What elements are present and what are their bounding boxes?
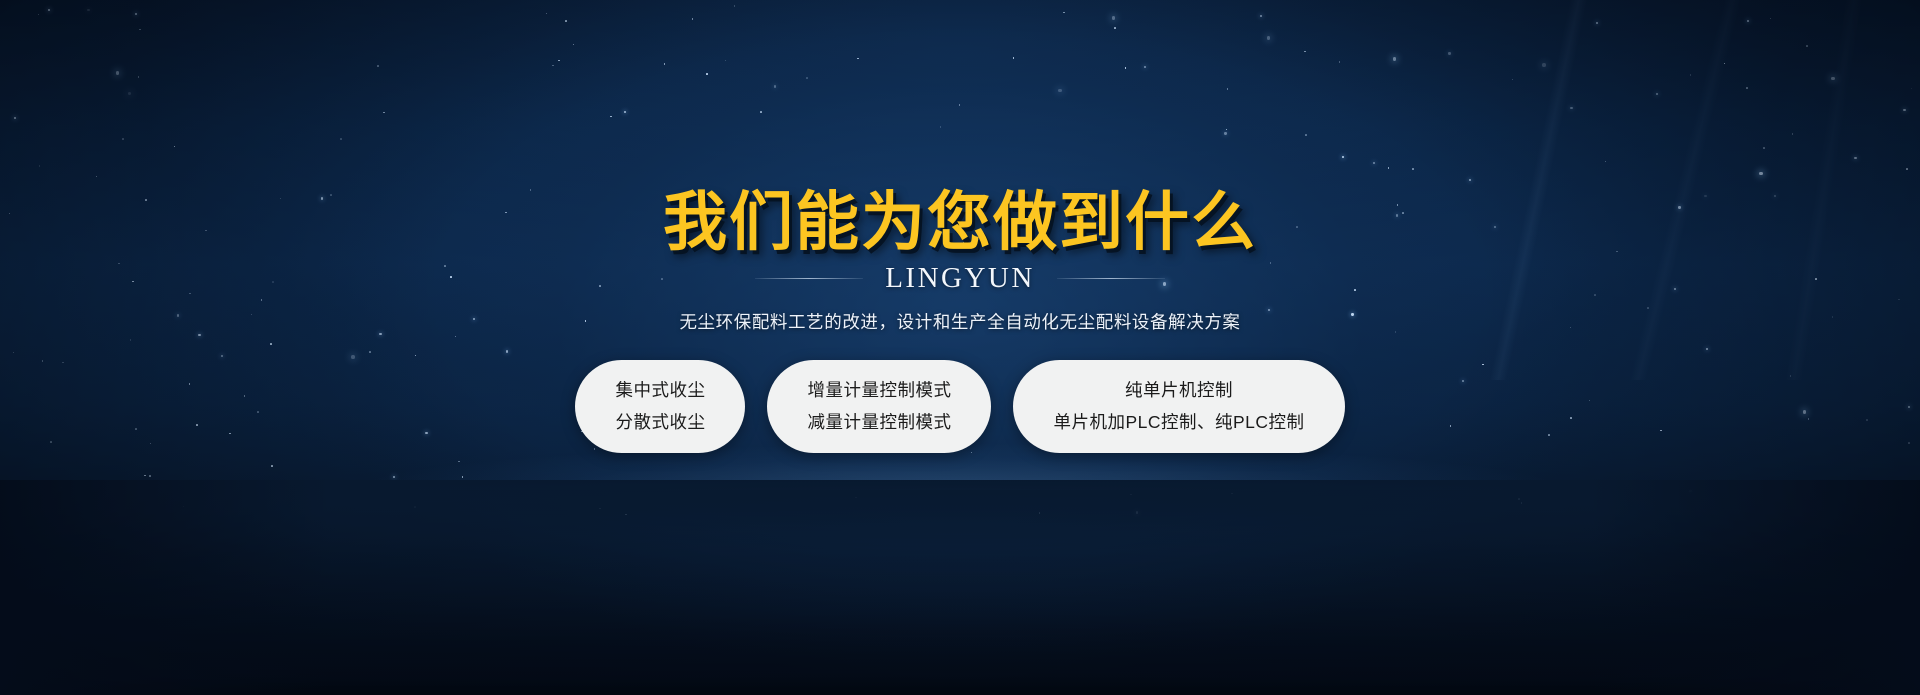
star-dot <box>725 60 727 62</box>
star-dot <box>1763 147 1765 149</box>
star-dot <box>1605 161 1607 163</box>
star-dot <box>1227 88 1229 90</box>
star-dot <box>377 65 379 67</box>
star-dot <box>1342 156 1344 158</box>
star-dot <box>1724 63 1726 65</box>
star-dot <box>1690 74 1692 76</box>
star-dot <box>139 29 141 31</box>
star-dot <box>806 77 808 79</box>
star-dot <box>1898 299 1900 301</box>
star-dot <box>1231 493 1233 495</box>
star-dot <box>625 514 627 516</box>
star-dot <box>13 352 15 354</box>
mesh-fade-overlay <box>0 480 1920 695</box>
star-dot <box>1448 52 1450 54</box>
pill-line-secondary: 分散式收尘 <box>615 411 705 434</box>
star-dot <box>692 18 694 20</box>
star-dot <box>734 5 736 7</box>
star-dot <box>48 9 50 11</box>
star-dot <box>1144 66 1146 68</box>
star-dot <box>383 112 385 114</box>
star-dot <box>340 138 342 140</box>
star-dot <box>1063 12 1065 14</box>
star-dot <box>1656 93 1658 95</box>
star-dot <box>1393 57 1397 61</box>
star-dot <box>1903 109 1905 111</box>
pill-line-primary: 集中式收尘 <box>615 379 705 402</box>
feature-pill-dust-collection[interactable]: 集中式收尘 分散式收尘 <box>575 360 745 453</box>
star-dot <box>138 76 140 78</box>
star-dot <box>122 138 124 140</box>
star-dot <box>855 497 857 499</box>
star-dot <box>940 126 942 128</box>
star-dot <box>1373 162 1375 164</box>
feature-pill-list: 集中式收尘 分散式收尘 增量计量控制模式 减量计量控制模式 纯单片机控制 单片机… <box>0 360 1920 453</box>
star-dot <box>1305 134 1307 136</box>
star-dot <box>135 13 137 15</box>
star-dot <box>369 351 371 353</box>
star-dot <box>1806 45 1808 47</box>
star-dot <box>706 73 708 75</box>
star-dot <box>183 506 185 508</box>
star-dot <box>1058 89 1062 93</box>
perspective-dot-mesh <box>0 480 1920 695</box>
star-dot <box>1854 157 1856 159</box>
star-dot <box>87 9 89 11</box>
pill-line-primary: 增量计量控制模式 <box>807 379 951 402</box>
star-dot <box>1911 88 1913 90</box>
star-dot <box>116 71 120 75</box>
divider-line-right <box>1057 278 1165 279</box>
star-dot <box>1570 107 1572 109</box>
star-dot <box>1039 512 1041 514</box>
feature-pill-control-system[interactable]: 纯单片机控制 单片机加PLC控制、纯PLC控制 <box>1013 360 1344 453</box>
star-dot <box>39 165 41 167</box>
star-dot <box>959 104 961 106</box>
star-dot <box>1304 51 1306 53</box>
star-dot <box>1388 167 1390 169</box>
star-dot <box>1125 67 1127 69</box>
star-dot <box>1542 63 1546 67</box>
hero-banner: 我们能为您做到什么 LINGYUN 无尘环保配料工艺的改进，设计和生产全自动化无… <box>0 0 1920 695</box>
star-dot <box>1792 133 1794 135</box>
star-dot <box>1267 36 1271 40</box>
star-dot <box>1226 129 1228 131</box>
feature-pill-metering-mode[interactable]: 增量计量控制模式 减量计量控制模式 <box>767 360 991 453</box>
star-dot <box>1512 79 1514 81</box>
star-dot <box>351 355 355 359</box>
star-dot <box>552 65 554 67</box>
star-dot <box>1112 16 1116 20</box>
mesh-right-fade <box>1590 480 1920 695</box>
star-dot <box>128 92 132 96</box>
star-dot <box>506 350 508 352</box>
starfield-decoration <box>0 0 1920 695</box>
star-dot <box>624 111 626 113</box>
brand-row: LINGYUN <box>0 260 1920 296</box>
star-dot <box>1747 20 1749 22</box>
star-dot <box>1412 168 1414 170</box>
star-dot <box>1114 27 1116 29</box>
vignette-overlay <box>0 0 1920 695</box>
star-dot <box>664 63 666 65</box>
star-dot <box>1518 498 1520 500</box>
star-dot <box>1770 18 1772 20</box>
mesh-left-fade <box>0 480 330 695</box>
pill-line-secondary: 单片机加PLC控制、纯PLC控制 <box>1053 411 1304 434</box>
star-dot <box>1224 132 1226 134</box>
banner-headline: 我们能为您做到什么 <box>0 186 1920 258</box>
star-dot <box>221 355 223 357</box>
star-dot <box>1759 172 1763 176</box>
star-dot <box>1906 168 1908 170</box>
star-dot <box>1689 490 1691 492</box>
star-dot <box>1136 511 1138 513</box>
star-dot <box>455 336 457 338</box>
star-dot <box>1130 494 1132 496</box>
star-dot <box>1596 22 1598 24</box>
star-dot <box>415 355 417 357</box>
star-dot <box>38 14 40 16</box>
star-dot <box>1469 179 1471 181</box>
banner-description: 无尘环保配料工艺的改进，设计和生产全自动化无尘配料设备解决方案 <box>0 309 1920 335</box>
star-dot <box>414 506 416 508</box>
star-dot <box>270 343 272 345</box>
star-dot <box>565 20 567 22</box>
pill-line-secondary: 减量计量控制模式 <box>807 411 951 434</box>
star-dot <box>599 508 601 510</box>
star-dot <box>130 339 132 341</box>
star-dot <box>774 85 776 87</box>
star-dot <box>261 299 263 301</box>
pill-line-primary: 纯单片机控制 <box>1053 379 1304 402</box>
star-dot <box>1339 61 1341 63</box>
star-dot <box>546 13 548 15</box>
star-dot <box>857 58 859 60</box>
star-dot <box>1521 502 1523 504</box>
star-dot <box>558 60 560 62</box>
divider-line-left <box>755 278 863 279</box>
brand-name: LINGYUN <box>885 260 1035 296</box>
star-dot <box>1260 15 1262 17</box>
star-dot <box>1746 87 1748 89</box>
star-dot <box>610 116 612 118</box>
star-dot <box>1831 77 1835 81</box>
star-dot <box>14 117 16 119</box>
star-dot <box>573 44 575 46</box>
star-dot <box>1706 348 1708 350</box>
star-dot <box>96 176 98 178</box>
star-dot <box>760 111 762 113</box>
star-dot <box>174 146 176 148</box>
star-dot <box>1013 57 1015 59</box>
